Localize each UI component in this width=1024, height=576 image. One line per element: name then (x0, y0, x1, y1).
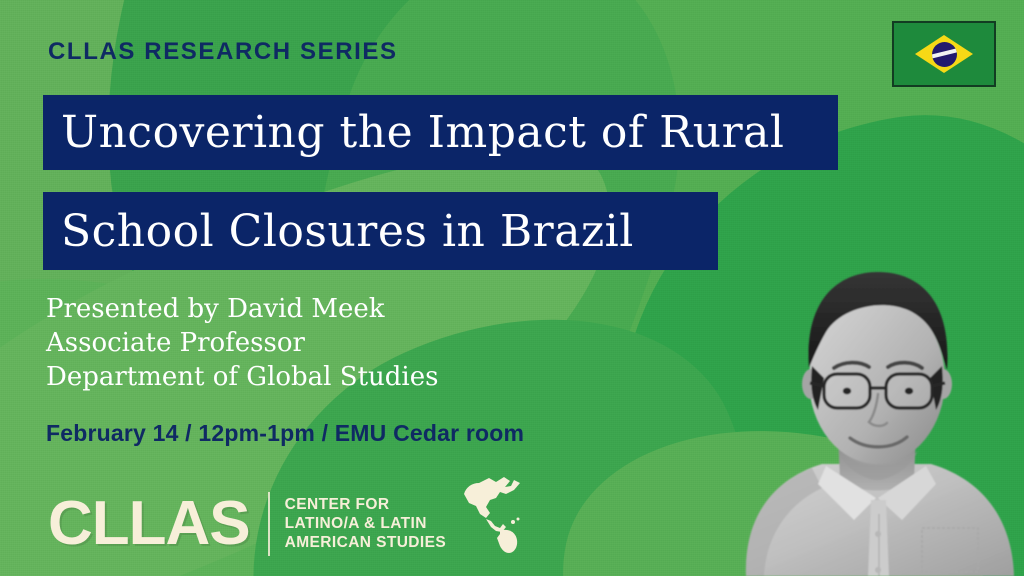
cllas-wordmark: CLLAS (48, 491, 268, 557)
presenter-title: Associate Professor (46, 326, 438, 360)
cllas-subtitle-line-1: CENTER FOR (285, 495, 446, 514)
title-banner-line-1: Uncovering the Impact of Rural (43, 95, 838, 170)
cllas-subtitle-line-2: LATINO/A & LATIN (285, 514, 446, 533)
cllas-subtitle: CENTER FOR LATINO/A & LATIN AMERICAN STU… (285, 495, 446, 552)
title-banner-line-2: School Closures in Brazil (43, 192, 718, 270)
speaker-photo (726, 228, 1024, 576)
brazil-flag-icon (892, 21, 996, 87)
series-kicker: CLLAS RESEARCH SERIES (48, 38, 398, 66)
flag-banner-band (932, 46, 957, 60)
cllas-subtitle-line-3: AMERICAN STUDIES (285, 533, 446, 552)
event-dateline: February 14 / 12pm-1pm / EMU Cedar room (46, 420, 524, 447)
event-flyer: CLLAS RESEARCH SERIES Uncovering the Imp… (0, 0, 1024, 576)
presenter-department: Department of Global Studies (46, 360, 438, 394)
flag-globe (932, 42, 957, 67)
cllas-logo: CLLAS CENTER FOR LATINO/A & LATIN AMERIC… (48, 488, 530, 559)
americas-map-icon (456, 474, 530, 559)
presenter-name: Presented by David Meek (46, 292, 438, 326)
logo-divider (268, 492, 270, 556)
presenter-block: Presented by David Meek Associate Profes… (46, 292, 438, 394)
